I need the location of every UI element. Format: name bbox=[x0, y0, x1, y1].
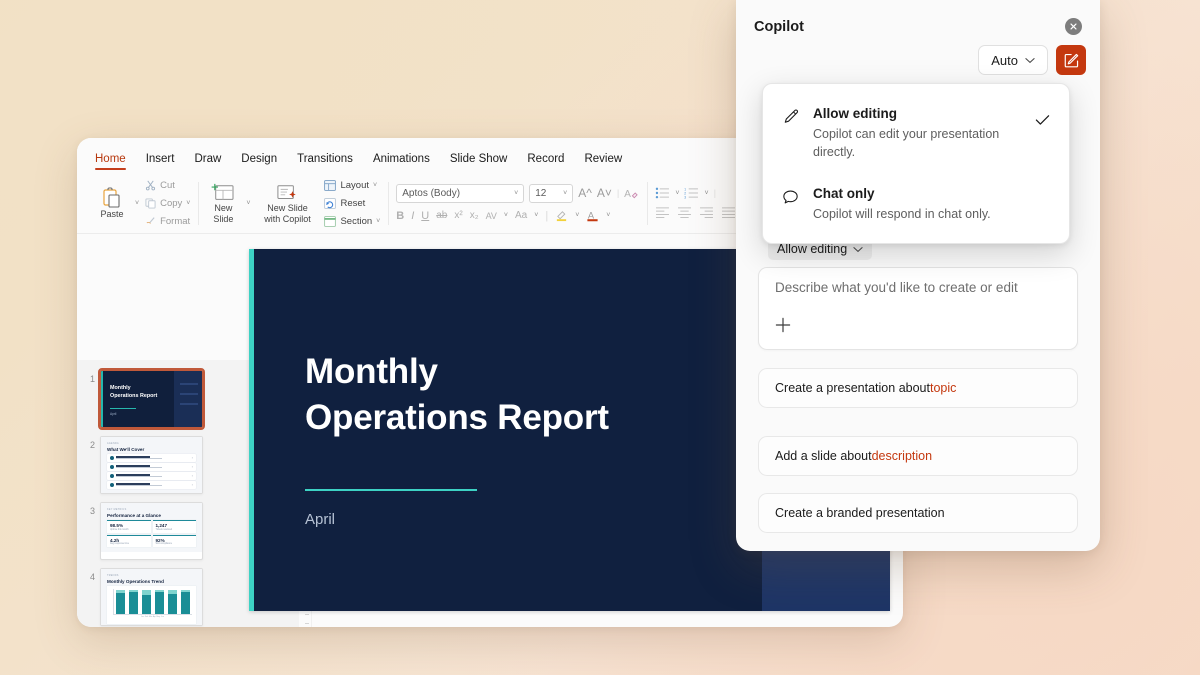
menu-item-text: Allow editing Copilot can edit your pres… bbox=[813, 104, 1023, 162]
copilot-slide-label-1: New Slide bbox=[267, 204, 308, 214]
tab-review-label: Review bbox=[584, 153, 622, 165]
tab-record[interactable]: Record bbox=[527, 153, 564, 170]
thumbnail-number: 1 bbox=[81, 370, 95, 384]
tab-draw[interactable]: Draw bbox=[194, 153, 221, 170]
kpi-card: 4.2hAvg response time bbox=[107, 535, 151, 548]
strikethrough-button[interactable]: ab bbox=[436, 210, 447, 221]
copilot-toolbar: Auto bbox=[736, 35, 1100, 75]
character-spacing-button[interactable]: AV bbox=[486, 211, 497, 221]
tab-animations[interactable]: Animations bbox=[373, 153, 430, 170]
clipboard-icon bbox=[102, 187, 122, 209]
menu-item-title: Allow editing bbox=[813, 104, 1023, 124]
kpi-label: Tickets resolved bbox=[156, 529, 194, 531]
align-left-icon[interactable] bbox=[655, 206, 670, 218]
font-family-value: Aptos (Body) bbox=[402, 188, 460, 199]
chart-bars bbox=[113, 589, 192, 615]
thumbnail-preview-1[interactable]: Monthly Operations Report April bbox=[100, 370, 203, 428]
chart-bar bbox=[168, 590, 177, 614]
copilot-panel: Copilot Auto bbox=[736, 0, 1100, 551]
copy-label: Copy bbox=[160, 198, 182, 209]
font-size-select[interactable]: 12 ˅ bbox=[529, 184, 573, 203]
svg-text:A: A bbox=[588, 210, 595, 220]
reset-label: Reset bbox=[340, 198, 365, 209]
suggestion-branded-presentation[interactable]: Create a branded presentation bbox=[758, 493, 1078, 533]
decorative-panel bbox=[174, 371, 202, 427]
change-case-chevron-down-icon[interactable]: ˅ bbox=[534, 212, 538, 219]
svg-text:A: A bbox=[624, 189, 631, 200]
tab-insert[interactable]: Insert bbox=[146, 153, 175, 170]
tab-transitions[interactable]: Transitions bbox=[297, 153, 353, 170]
font-row-bottom: B I U ab x² x₂ AV ˅ Aa ˅ | ˅ bbox=[396, 208, 639, 224]
section-button[interactable]: Section ˅ bbox=[324, 214, 380, 229]
copilot-slide-label-2: with Copilot bbox=[264, 215, 311, 225]
font-family-chevron-down-icon[interactable]: ˅ bbox=[514, 190, 518, 197]
thumb-eyebrow: KEY METRICS bbox=[107, 508, 196, 511]
ribbon-group-clipboard: Paste ˅ Cut Copy bbox=[87, 174, 198, 233]
suggestion-add-slide[interactable]: Add a slide about description bbox=[758, 436, 1078, 476]
font-color-chevron-down-icon[interactable]: ˅ bbox=[606, 212, 610, 219]
thumb-heading: Monthly Operations Trend bbox=[107, 579, 196, 584]
italic-button[interactable]: I bbox=[411, 210, 414, 222]
menu-item-check-placeholder bbox=[1035, 184, 1053, 194]
add-attachment-button[interactable] bbox=[773, 315, 793, 335]
thumb-content: AGENDA What We'll Cover › › › › bbox=[101, 437, 202, 494]
numbered-list-chevron-down-icon[interactable]: ˅ bbox=[704, 190, 708, 197]
font-size-chevron-down-icon[interactable]: ˅ bbox=[563, 190, 567, 197]
bold-button[interactable]: B bbox=[396, 210, 404, 222]
checkmark-icon bbox=[1035, 104, 1053, 126]
thumb-title-line2: Operations Report bbox=[110, 393, 157, 399]
slide-divider bbox=[305, 489, 477, 491]
format-painter-button[interactable]: Format bbox=[145, 214, 190, 229]
thumbnail-preview-3[interactable]: KEY METRICS Performance at a Glance 98.5… bbox=[100, 502, 203, 560]
thumbnail-number: 3 bbox=[81, 502, 95, 516]
model-selector[interactable]: Auto bbox=[978, 45, 1048, 75]
kpi-value: 4.2h bbox=[110, 538, 148, 543]
thumb-content: TRENDS Monthly Operations Trend Jan Feb … bbox=[101, 569, 202, 626]
mode-dropdown-menu[interactable]: Allow editing Copilot can edit your pres… bbox=[762, 83, 1070, 244]
list-item: › bbox=[107, 454, 196, 462]
tab-design-label: Design bbox=[241, 153, 277, 165]
tab-insert-label: Insert bbox=[146, 153, 175, 165]
menu-item-chat-only[interactable]: Chat only Copilot will respond in chat o… bbox=[763, 178, 1069, 229]
cut-label: Cut bbox=[160, 180, 175, 191]
reset-button[interactable]: Reset bbox=[324, 196, 380, 211]
new-chat-button[interactable] bbox=[1056, 45, 1086, 75]
menu-item-description: Copilot will respond in chat only. bbox=[813, 205, 1023, 223]
composer-placeholder: Describe what you'd like to create or ed… bbox=[775, 280, 1018, 295]
thumb-eyebrow: AGENDA bbox=[107, 442, 196, 445]
layout-chevron-down-icon[interactable]: ˅ bbox=[373, 182, 377, 189]
new-slide-label-2: Slide bbox=[213, 215, 233, 225]
thumb-content: KEY METRICS Performance at a Glance 98.5… bbox=[101, 503, 202, 552]
kpi-label: Uptime this month bbox=[110, 529, 148, 531]
kpi-value: 92% bbox=[156, 538, 194, 543]
copilot-title: Copilot bbox=[754, 19, 804, 35]
list-item: › bbox=[107, 463, 196, 471]
tab-slide-show[interactable]: Slide Show bbox=[450, 153, 508, 170]
format-painter-label: Format bbox=[160, 216, 190, 227]
chat-bubble-icon bbox=[779, 184, 801, 207]
chart-bar bbox=[116, 590, 125, 614]
bulleted-list-chevron-down-icon[interactable]: ˅ bbox=[675, 190, 679, 197]
list-item: › bbox=[107, 481, 196, 489]
thumb-eyebrow: TRENDS bbox=[107, 574, 196, 577]
tab-home-label: Home bbox=[95, 153, 126, 165]
tab-animations-label: Animations bbox=[373, 153, 430, 165]
section-chevron-down-icon[interactable]: ˅ bbox=[376, 218, 380, 225]
kpi-value: 98.5% bbox=[110, 523, 148, 528]
new-slide-label-1: New bbox=[214, 204, 232, 214]
chart-x-labels: Jan Feb Mar Apr May Jun bbox=[113, 616, 192, 618]
paste-chevron-down-icon[interactable]: ˅ bbox=[135, 200, 139, 207]
chart-bar bbox=[142, 590, 151, 614]
svg-text:3: 3 bbox=[685, 196, 687, 199]
reset-icon bbox=[324, 198, 336, 209]
close-x-glyph bbox=[1068, 21, 1079, 32]
font-stack: Aptos (Body) ˅ 12 ˅ A^ A˅ | A bbox=[396, 184, 639, 224]
thumb-title-line1: Monthly bbox=[110, 385, 131, 391]
chart-bar bbox=[155, 590, 164, 614]
section-label: Section bbox=[340, 216, 372, 227]
paste-button[interactable]: Paste bbox=[95, 187, 129, 220]
suggestion-highlight: topic bbox=[930, 381, 956, 395]
slide-layout-commands: Layout ˅ Reset Section bbox=[324, 178, 380, 229]
accent-stripe bbox=[101, 371, 103, 427]
suggestion-prefix: Create a branded presentation bbox=[775, 506, 945, 520]
suggestion-prefix: Create a presentation about bbox=[775, 381, 930, 395]
layout-label: Layout bbox=[340, 180, 369, 191]
compose-icon bbox=[1063, 52, 1080, 69]
chevron-down-icon bbox=[853, 246, 863, 253]
clear-formatting-icon[interactable]: A bbox=[624, 187, 639, 200]
tab-record-label: Record bbox=[527, 153, 564, 165]
highlight-chevron-down-icon[interactable]: ˅ bbox=[575, 212, 579, 219]
paintbrush-icon bbox=[145, 216, 156, 227]
kpi-card: 92%SLA compliance bbox=[153, 535, 197, 548]
align-right-icon[interactable] bbox=[699, 206, 714, 218]
slide-title[interactable]: Monthly Operations Report bbox=[305, 349, 609, 441]
section-icon bbox=[324, 216, 336, 227]
chart-bar bbox=[129, 590, 138, 614]
list-item: › bbox=[107, 472, 196, 480]
thumb-agenda-list: › › › › bbox=[107, 454, 196, 489]
paragraph-stack: ˅ 1 2 3 ˅ | bbox=[655, 187, 736, 220]
decrease-font-size-icon[interactable]: A˅ bbox=[597, 186, 612, 200]
slide-title-line2: Operations Report bbox=[305, 398, 609, 437]
slide-title-line1: Monthly bbox=[305, 352, 438, 391]
text-highlight-icon[interactable] bbox=[555, 209, 568, 222]
chat-bubble-glyph bbox=[781, 188, 800, 207]
model-selector-label: Auto bbox=[991, 53, 1018, 68]
numbered-list-icon[interactable]: 1 2 3 bbox=[684, 187, 699, 199]
thumb-heading: Performance at a Glance bbox=[107, 513, 196, 518]
ribbon-group-slides: New Slide ˅ New Slide with Copilot bbox=[198, 174, 388, 233]
thumbnail-title: Monthly Operations Report bbox=[110, 385, 157, 401]
character-spacing-chevron-down-icon[interactable]: ˅ bbox=[504, 212, 508, 219]
pencil-glyph bbox=[781, 108, 800, 127]
kpi-value: 1,247 bbox=[156, 523, 194, 528]
bulleted-list-icon[interactable] bbox=[655, 187, 670, 199]
layout-icon bbox=[324, 180, 336, 191]
mode-pill-label: Allow editing bbox=[777, 242, 847, 256]
kpi-card: 98.5%Uptime this month bbox=[107, 520, 151, 533]
chevron-down-icon bbox=[1025, 57, 1035, 64]
layout-button[interactable]: Layout ˅ bbox=[324, 178, 380, 193]
subscript-button[interactable]: x₂ bbox=[470, 210, 479, 221]
slide-accent-stripe bbox=[249, 249, 254, 611]
menu-item-text: Chat only Copilot will respond in chat o… bbox=[813, 184, 1023, 223]
thumbnail-preview-2[interactable]: AGENDA What We'll Cover › › › › bbox=[100, 436, 203, 494]
cut-button[interactable]: Cut bbox=[145, 178, 190, 193]
scissors-icon bbox=[145, 180, 156, 191]
new-slide-chevron-down-icon[interactable]: ˅ bbox=[246, 200, 250, 207]
new-slide-icon bbox=[211, 183, 235, 203]
font-size-value: 12 bbox=[535, 188, 546, 199]
check-glyph bbox=[1035, 114, 1050, 126]
thumbnail-number: 4 bbox=[81, 568, 95, 582]
underline-button[interactable]: U bbox=[421, 210, 429, 222]
slide-subtitle[interactable]: April bbox=[305, 511, 335, 528]
kpi-label: SLA compliance bbox=[156, 543, 194, 545]
justify-icon[interactable] bbox=[721, 206, 736, 218]
kpi-label: Avg response time bbox=[110, 543, 148, 545]
chart-bar bbox=[181, 590, 190, 614]
plus-icon bbox=[773, 315, 793, 335]
alignment-row bbox=[655, 204, 736, 220]
menu-item-allow-editing[interactable]: Allow editing Copilot can edit your pres… bbox=[763, 98, 1069, 168]
new-slide-button[interactable]: New Slide bbox=[206, 183, 240, 225]
font-row-top: Aptos (Body) ˅ 12 ˅ A^ A˅ | A bbox=[396, 184, 639, 203]
new-slide-with-copilot-button[interactable]: New Slide with Copilot bbox=[256, 183, 318, 225]
menu-item-title: Chat only bbox=[813, 184, 1023, 204]
paste-label: Paste bbox=[100, 210, 123, 220]
close-icon[interactable] bbox=[1065, 18, 1082, 35]
tab-review[interactable]: Review bbox=[584, 153, 622, 170]
copilot-slide-icon bbox=[275, 183, 299, 203]
copy-icon bbox=[145, 198, 156, 209]
copy-chevron-down-icon[interactable]: ˅ bbox=[186, 200, 190, 207]
menu-item-description: Copilot can edit your presentation direc… bbox=[813, 125, 1023, 161]
thumb-kpi-grid: 98.5%Uptime this month 1,247Tickets reso… bbox=[107, 520, 196, 547]
ribbon-group-font: Aptos (Body) ˅ 12 ˅ A^ A˅ | A bbox=[388, 174, 647, 233]
tab-slide-show-label: Slide Show bbox=[450, 153, 508, 165]
align-center-icon[interactable] bbox=[677, 206, 692, 218]
pencil-icon bbox=[779, 104, 801, 127]
list-row: ˅ 1 2 3 ˅ | bbox=[655, 187, 736, 199]
suggestion-highlight: description bbox=[872, 449, 932, 463]
font-color-icon[interactable]: A bbox=[586, 209, 599, 222]
kpi-card: 1,247Tickets resolved bbox=[153, 520, 197, 533]
thumbnail-number: 2 bbox=[81, 436, 95, 450]
tab-transitions-label: Transitions bbox=[297, 153, 353, 165]
suggestion-create-presentation[interactable]: Create a presentation about topic bbox=[758, 368, 1078, 408]
superscript-button[interactable]: x² bbox=[454, 210, 462, 221]
thumb-bar-chart: Jan Feb Mar Apr May Jun bbox=[107, 586, 196, 624]
prompt-composer[interactable]: Describe what you'd like to create or ed… bbox=[758, 267, 1078, 350]
change-case-button[interactable]: Aa bbox=[515, 210, 527, 221]
suggestion-prefix: Add a slide about bbox=[775, 449, 872, 463]
ribbon-group-paragraph: ˅ 1 2 3 ˅ | bbox=[647, 174, 744, 233]
font-family-select[interactable]: Aptos (Body) ˅ bbox=[396, 184, 524, 203]
thumb-subtitle: April bbox=[110, 412, 116, 416]
clipboard-commands: Cut Copy ˅ Format bbox=[145, 178, 190, 229]
tab-draw-label: Draw bbox=[194, 153, 221, 165]
tab-home[interactable]: Home bbox=[95, 153, 126, 170]
thumbnail-preview-4[interactable]: TRENDS Monthly Operations Trend Jan Feb … bbox=[100, 568, 203, 626]
thumb-heading: What We'll Cover bbox=[107, 447, 196, 452]
tab-design[interactable]: Design bbox=[241, 153, 277, 170]
thumb-rule bbox=[110, 408, 136, 409]
copy-button[interactable]: Copy ˅ bbox=[145, 196, 190, 211]
copilot-header: Copilot bbox=[736, 0, 1100, 35]
increase-font-size-icon[interactable]: A^ bbox=[578, 186, 592, 200]
